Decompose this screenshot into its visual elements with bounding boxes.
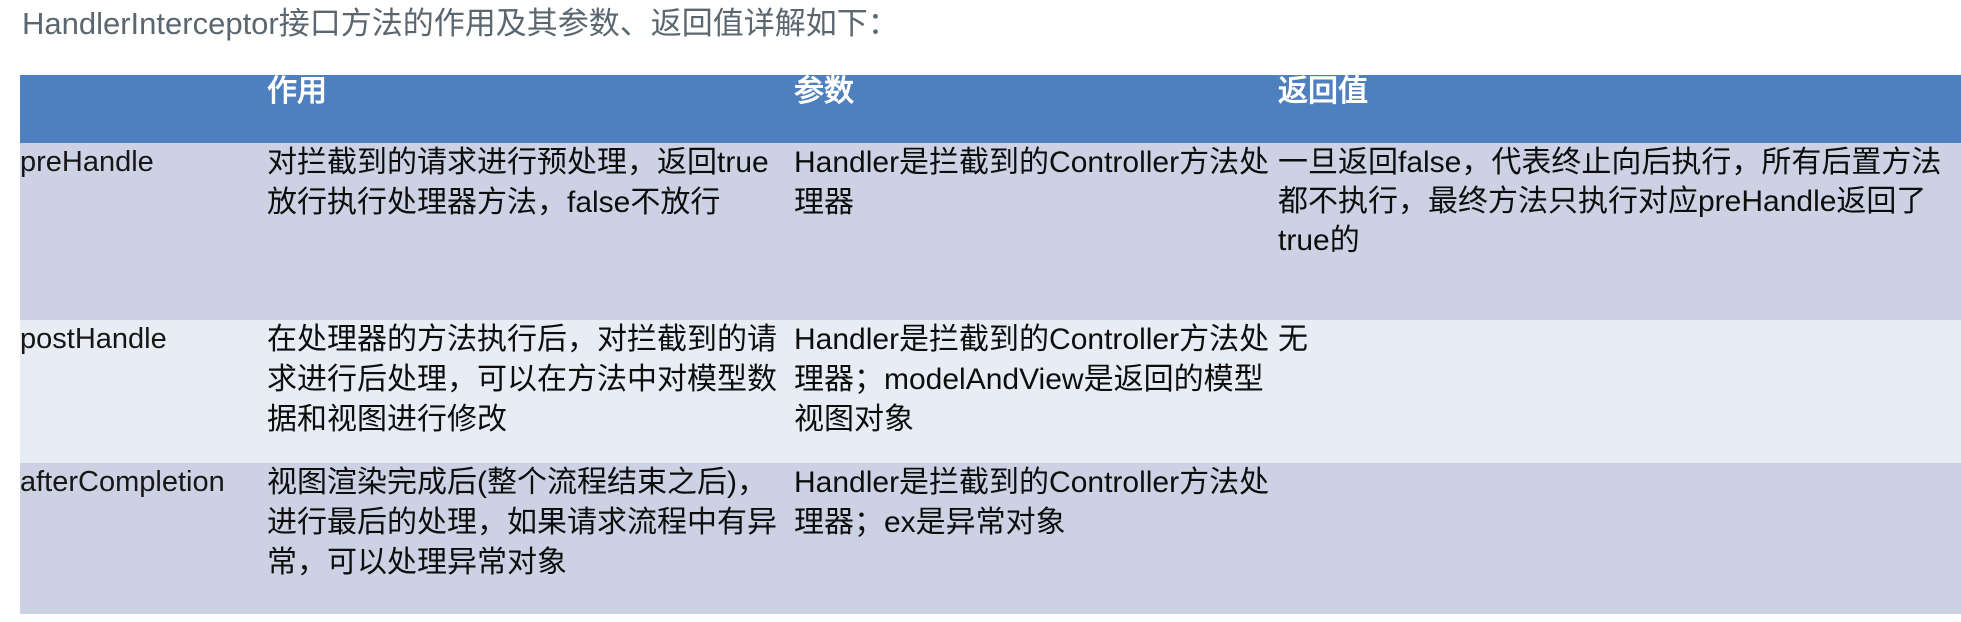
cell-effect: 对拦截到的请求进行预处理，返回true放行执行处理器方法，false不放行 [267, 143, 794, 320]
table-row: afterCompletion 视图渲染完成后(整个流程结束之后)，进行最后的处… [20, 463, 1961, 614]
table-row: preHandle 对拦截到的请求进行预处理，返回true放行执行处理器方法，f… [20, 143, 1961, 320]
method-name: preHandle [20, 143, 267, 182]
document-page: HandlerInterceptor接口方法的作用及其参数、返回值详解如下： 作… [0, 0, 1961, 622]
table-row: postHandle 在处理器的方法执行后，对拦截到的请求进行后处理，可以在方法… [20, 320, 1961, 463]
method-name: afterCompletion [20, 463, 267, 502]
column-header-effect: 作用 [267, 75, 794, 143]
returns-text: 一旦返回false，代表终止向后执行，所有后置方法都不执行，最终方法只执行对应p… [1278, 143, 1961, 260]
table-header: 作用 参数 返回值 [20, 75, 1961, 143]
table-body: preHandle 对拦截到的请求进行预处理，返回true放行执行处理器方法，f… [20, 143, 1961, 614]
params-text: Handler是拦截到的Controller方法处理器；modelAndView… [794, 320, 1278, 440]
cell-params: Handler是拦截到的Controller方法处理器；ex是异常对象 [794, 463, 1278, 614]
effect-text: 对拦截到的请求进行预处理，返回true放行执行处理器方法，false不放行 [267, 143, 794, 223]
cell-effect: 视图渲染完成后(整个流程结束之后)，进行最后的处理，如果请求流程中有异常，可以处… [267, 463, 794, 614]
returns-text: 无 [1278, 320, 1961, 359]
column-header-returns: 返回值 [1278, 75, 1961, 143]
column-header-method [20, 75, 267, 143]
effect-text: 视图渲染完成后(整个流程结束之后)，进行最后的处理，如果请求流程中有异常，可以处… [267, 463, 794, 583]
interceptor-methods-table: 作用 参数 返回值 preHandle 对拦截到的请求进行预处理，返回true放… [20, 75, 1961, 614]
params-text: Handler是拦截到的Controller方法处理器 [794, 143, 1278, 223]
cell-method: preHandle [20, 143, 267, 320]
effect-text: 在处理器的方法执行后，对拦截到的请求进行后处理，可以在方法中对模型数据和视图进行… [267, 320, 794, 440]
cell-method: afterCompletion [20, 463, 267, 614]
cell-method: postHandle [20, 320, 267, 463]
cell-returns: 无 [1278, 320, 1961, 463]
table-header-row: 作用 参数 返回值 [20, 75, 1961, 143]
cell-returns [1278, 463, 1961, 614]
method-name: postHandle [20, 320, 267, 359]
params-text: Handler是拦截到的Controller方法处理器；ex是异常对象 [794, 463, 1278, 543]
interceptor-table-container: 作用 参数 返回值 preHandle 对拦截到的请求进行预处理，返回true放… [20, 75, 1961, 615]
cell-params: Handler是拦截到的Controller方法处理器 [794, 143, 1278, 320]
column-header-params: 参数 [794, 75, 1278, 143]
cell-returns: 一旦返回false，代表终止向后执行，所有后置方法都不执行，最终方法只执行对应p… [1278, 143, 1961, 320]
page-title: HandlerInterceptor接口方法的作用及其参数、返回值详解如下： [22, 2, 1922, 50]
cell-params: Handler是拦截到的Controller方法处理器；modelAndView… [794, 320, 1278, 463]
cell-effect: 在处理器的方法执行后，对拦截到的请求进行后处理，可以在方法中对模型数据和视图进行… [267, 320, 794, 463]
